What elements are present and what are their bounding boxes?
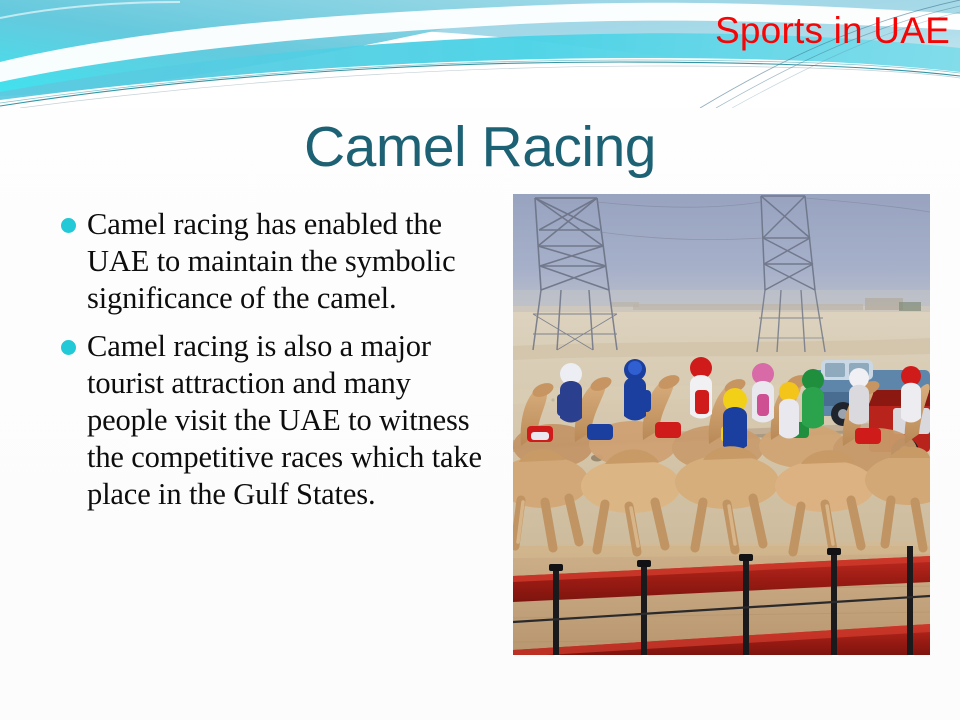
banner-title: Sports in UAE: [715, 12, 950, 49]
bullet-dot-icon: [61, 218, 76, 233]
camel-race-illustration: [513, 194, 930, 655]
bullet-text: Camel racing has enabled the UAE to main…: [87, 206, 496, 317]
slide: Sports in UAE Camel Racing Camel racing …: [0, 0, 960, 720]
bullet-text: Camel racing is also a major tourist att…: [87, 328, 496, 513]
camel-racing-photo: [513, 194, 930, 655]
page-title: Camel Racing: [0, 118, 960, 178]
list-item: Camel racing is also a major tourist att…: [36, 328, 496, 513]
bullet-dot-icon: [61, 340, 76, 355]
header-banner: Sports in UAE: [0, 0, 960, 108]
list-item: Camel racing has enabled the UAE to main…: [36, 206, 496, 317]
bullet-list: Camel racing has enabled the UAE to main…: [36, 206, 496, 524]
